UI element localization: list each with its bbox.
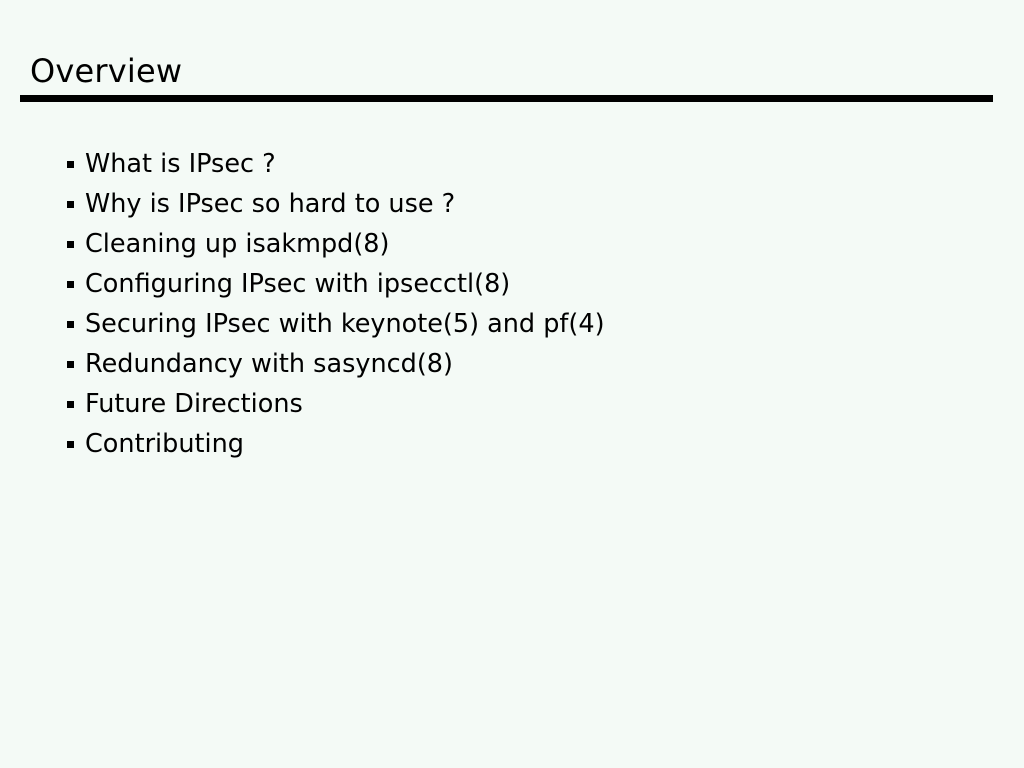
list-item: Securing IPsec with keynote(5) and pf(4)	[66, 304, 966, 344]
list-item-label: What is IPsec ?	[85, 144, 276, 184]
list-item-label: Why is IPsec so hard to use ?	[85, 184, 455, 224]
page-title: Overview	[30, 52, 182, 90]
title-divider	[20, 95, 993, 102]
square-bullet-icon	[67, 241, 74, 248]
square-bullet-icon	[67, 321, 74, 328]
list-item: What is IPsec ?	[66, 144, 966, 184]
square-bullet-icon	[67, 201, 74, 208]
list-item: Contributing	[66, 424, 966, 464]
presentation-slide: Overview What is IPsec ? Why is IPsec so…	[0, 0, 1024, 768]
list-item: Configuring IPsec with ipsecctl(8)	[66, 264, 966, 304]
list-item-label: Contributing	[85, 424, 244, 464]
list-item-label: Cleaning up isakmpd(8)	[85, 224, 389, 264]
list-item-label: Future Directions	[85, 384, 303, 424]
list-item-label: Securing IPsec with keynote(5) and pf(4)	[85, 304, 605, 344]
list-item: Why is IPsec so hard to use ?	[66, 184, 966, 224]
list-item: Cleaning up isakmpd(8)	[66, 224, 966, 264]
list-item: Future Directions	[66, 384, 966, 424]
square-bullet-icon	[67, 401, 74, 408]
list-item-label: Redundancy with sasyncd(8)	[85, 344, 453, 384]
square-bullet-icon	[67, 161, 74, 168]
square-bullet-icon	[67, 441, 74, 448]
list-item: Redundancy with sasyncd(8)	[66, 344, 966, 384]
square-bullet-icon	[67, 361, 74, 368]
square-bullet-icon	[67, 281, 74, 288]
overview-bullet-list: What is IPsec ? Why is IPsec so hard to …	[66, 144, 966, 464]
list-item-label: Configuring IPsec with ipsecctl(8)	[85, 264, 510, 304]
